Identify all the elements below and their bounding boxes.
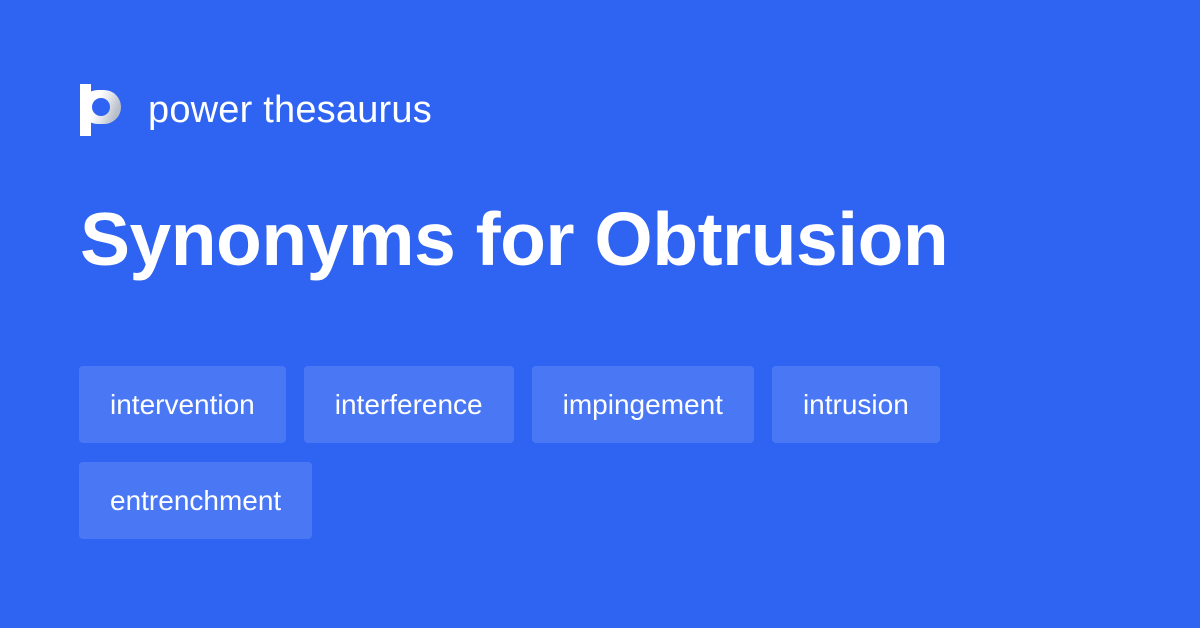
page-title: Synonyms for Obtrusion (80, 197, 948, 281)
share-card: power thesaurus Synonyms for Obtrusion i… (0, 0, 1200, 628)
brand-name: power thesaurus (148, 91, 432, 129)
power-thesaurus-logo-icon (80, 84, 126, 136)
synonym-tag[interactable]: intrusion (772, 366, 940, 443)
synonym-tag[interactable]: intervention (79, 366, 286, 443)
synonym-list: intervention interference impingement in… (79, 366, 1119, 539)
synonym-tag[interactable]: interference (304, 366, 514, 443)
synonym-tag[interactable]: entrenchment (79, 462, 312, 539)
brand-lockup[interactable]: power thesaurus (80, 82, 432, 138)
synonym-tag[interactable]: impingement (532, 366, 754, 443)
